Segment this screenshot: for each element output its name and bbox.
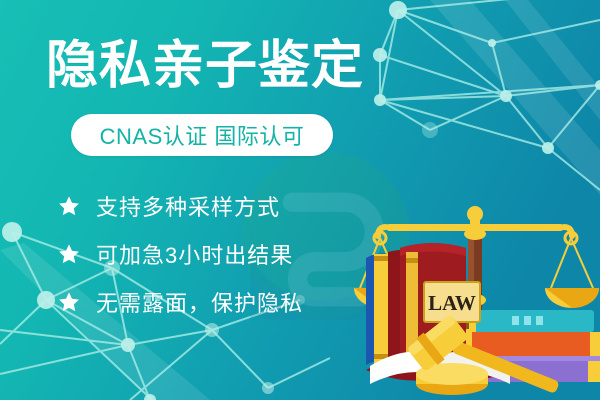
star-icon bbox=[58, 243, 80, 265]
list-item-label: 无需露面，保护隐私 bbox=[96, 286, 303, 318]
certification-badge: CNAS认证 国际认可 bbox=[71, 114, 333, 156]
certification-badge-label: CNAS认证 国际认可 bbox=[100, 119, 305, 151]
law-illustration: LAW bbox=[352, 188, 600, 400]
law-book-label: LAW bbox=[428, 291, 476, 315]
star-icon bbox=[58, 291, 80, 313]
list-item-label: 可加急3小时出结果 bbox=[96, 238, 293, 270]
star-icon bbox=[58, 195, 80, 217]
list-item: 可加急3小时出结果 bbox=[58, 230, 358, 278]
list-item-label: 支持多种采样方式 bbox=[96, 190, 280, 222]
list-item: 支持多种采样方式 bbox=[58, 182, 358, 230]
promo-banner: 隐私亲子鉴定 CNAS认证 国际认可 支持多种采样方式 可加急3小时出结果 bbox=[0, 0, 600, 400]
text-content: 隐私亲子鉴定 CNAS认证 国际认可 支持多种采样方式 可加急3小时出结果 bbox=[0, 0, 380, 400]
feature-list: 支持多种采样方式 可加急3小时出结果 无需露面，保护隐私 bbox=[58, 182, 358, 326]
page-title: 隐私亲子鉴定 bbox=[46, 36, 364, 96]
list-item: 无需露面，保护隐私 bbox=[58, 278, 358, 326]
